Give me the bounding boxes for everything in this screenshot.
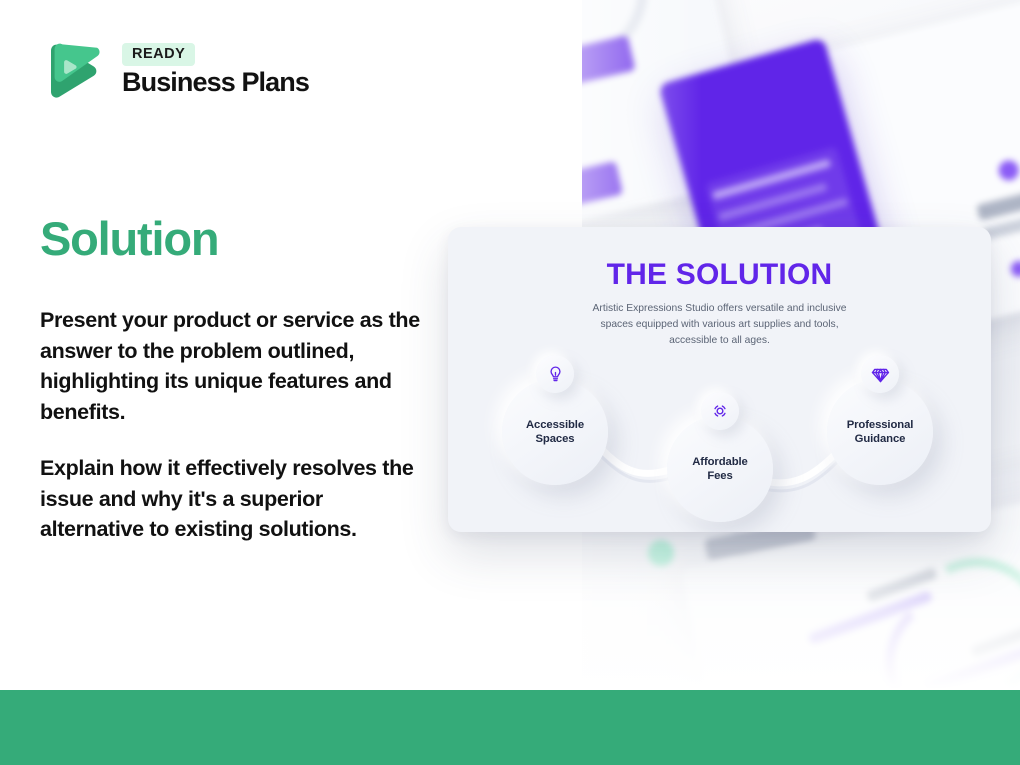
feature-node-accessible-spaces[interactable]: AccessibleSpaces	[502, 355, 608, 485]
decorative-purple-bar	[582, 35, 636, 117]
brand-logo-lockup: READY Business Plans	[40, 36, 309, 104]
diamond-icon	[861, 355, 899, 393]
ready-badge: READY	[122, 43, 195, 66]
node-label: ProfessionalGuidance	[847, 418, 914, 447]
node-label: AffordableFees	[692, 455, 748, 484]
brand-name: Business Plans	[122, 68, 309, 97]
page-title: Solution	[40, 214, 218, 263]
feature-node-affordable-fees[interactable]: AffordableFees	[667, 392, 773, 522]
brand-text-block: READY Business Plans	[122, 43, 309, 97]
node-circle: AccessibleSpaces	[502, 379, 608, 485]
lightbulb-icon	[536, 355, 574, 393]
node-circle: ProfessionalGuidance	[827, 379, 933, 485]
paragraph-1: Present your product or service as the a…	[40, 305, 432, 427]
decorative-bar	[976, 183, 1020, 221]
decorative-purple-bar	[582, 161, 623, 232]
solution-preview-card: THE SOLUTION Artistic Expressions Studio…	[448, 227, 991, 532]
slide-canvas: READY Business Plans Solution Present yo…	[0, 0, 1020, 765]
decorative-dot	[997, 158, 1020, 182]
decorative-mint-dot	[646, 538, 676, 568]
decorative-dot	[1009, 259, 1020, 278]
node-circle: AffordableFees	[667, 416, 773, 522]
lifebuoy-icon	[701, 392, 739, 430]
play-triangle-logo-icon	[40, 36, 108, 104]
footer-bar	[0, 690, 1020, 765]
paragraph-2: Explain how it effectively resolves the …	[40, 453, 432, 545]
node-label: AccessibleSpaces	[526, 418, 584, 447]
feature-node-professional-guidance[interactable]: ProfessionalGuidance	[827, 355, 933, 485]
body-copy: Present your product or service as the a…	[40, 305, 432, 545]
